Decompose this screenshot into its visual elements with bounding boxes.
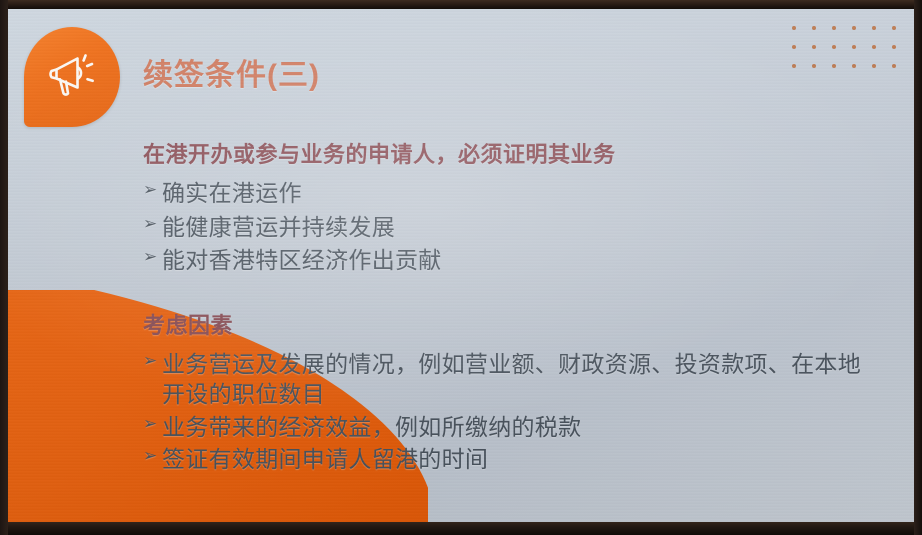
projected-slide-photo: 续签条件(三) 在港开办或参与业务的申请人，必须证明其业务 ➢ 确实在港运作 ➢… xyxy=(0,0,922,535)
grid-dot xyxy=(792,26,796,30)
section-heading: 考虑因素 xyxy=(143,308,878,340)
slide-body: 在港开办或参与业务的申请人，必须证明其业务 ➢ 确实在港运作 ➢ 能健康营运并持… xyxy=(143,137,878,477)
frame-edge-left xyxy=(0,0,8,535)
list-item-label: 业务营运及发展的情况，例如营业额、财政资源、投资款项、在本地开设的职位数目 xyxy=(162,349,878,410)
grid-dot xyxy=(892,64,896,68)
bullet-list: ➢ 确实在港运作 ➢ 能健康营运并持续发展 ➢ 能对香港特区经济作出贡献 xyxy=(143,178,878,276)
grid-dot xyxy=(852,26,856,30)
grid-dot xyxy=(812,45,816,49)
grid-dot xyxy=(832,45,836,49)
section-consideration-factors: 考虑因素 ➢ 业务营运及发展的情况，例如营业额、财政资源、投资款项、在本地开设的… xyxy=(143,308,878,475)
grid-dot xyxy=(872,26,876,30)
arrow-bullet-icon: ➢ xyxy=(143,245,162,269)
grid-dot xyxy=(812,64,816,68)
bullet-list: ➢ 业务营运及发展的情况，例如营业额、财政资源、投资款项、在本地开设的职位数目 … xyxy=(143,349,878,475)
grid-dot xyxy=(852,45,856,49)
grid-dot xyxy=(892,26,896,30)
list-item: ➢ 业务营运及发展的情况，例如营业额、财政资源、投资款项、在本地开设的职位数目 xyxy=(143,349,878,410)
arrow-bullet-icon: ➢ xyxy=(143,178,162,202)
grid-dot xyxy=(832,64,836,68)
arrow-bullet-icon: ➢ xyxy=(143,212,162,236)
section-business-requirements: 在港开办或参与业务的申请人，必须证明其业务 ➢ 确实在港运作 ➢ 能健康营运并持… xyxy=(143,137,878,276)
grid-dot xyxy=(872,45,876,49)
grid-dot xyxy=(852,64,856,68)
arrow-bullet-icon: ➢ xyxy=(143,412,162,436)
list-item: ➢ 签证有效期间申请人留港的时间 xyxy=(143,444,878,475)
arrow-bullet-icon: ➢ xyxy=(143,444,162,468)
grid-dot xyxy=(892,45,896,49)
grid-dot xyxy=(812,26,816,30)
grid-dot xyxy=(792,64,796,68)
slide-title: 续签条件(三) xyxy=(143,50,320,94)
list-item: ➢ 确实在港运作 xyxy=(143,178,878,209)
frame-edge-bottom xyxy=(0,522,922,535)
list-item-label: 能对香港特区经济作出贡献 xyxy=(162,245,878,276)
grid-dot xyxy=(832,26,836,30)
list-item-label: 业务带来的经济效益，例如所缴纳的税款 xyxy=(162,412,878,443)
grid-dot xyxy=(872,64,876,68)
frame-edge-right xyxy=(914,0,922,535)
dot-grid-decoration xyxy=(784,18,904,75)
frame-edge-top xyxy=(0,0,922,9)
list-item-label: 能健康营运并持续发展 xyxy=(162,212,878,243)
list-item-label: 签证有效期间申请人留港的时间 xyxy=(162,444,878,475)
megaphone-icon xyxy=(40,43,106,109)
grid-dot xyxy=(792,45,796,49)
list-item: ➢ 能健康营运并持续发展 xyxy=(143,212,878,243)
list-item-label: 确实在港运作 xyxy=(162,178,878,209)
list-item: ➢ 能对香港特区经济作出贡献 xyxy=(143,245,878,276)
list-item: ➢ 业务带来的经济效益，例如所缴纳的税款 xyxy=(143,412,878,443)
arrow-bullet-icon: ➢ xyxy=(143,349,162,373)
megaphone-badge xyxy=(24,27,120,127)
section-heading: 在港开办或参与业务的申请人，必须证明其业务 xyxy=(143,137,878,169)
presentation-slide: 续签条件(三) 在港开办或参与业务的申请人，必须证明其业务 ➢ 确实在港运作 ➢… xyxy=(8,9,914,522)
